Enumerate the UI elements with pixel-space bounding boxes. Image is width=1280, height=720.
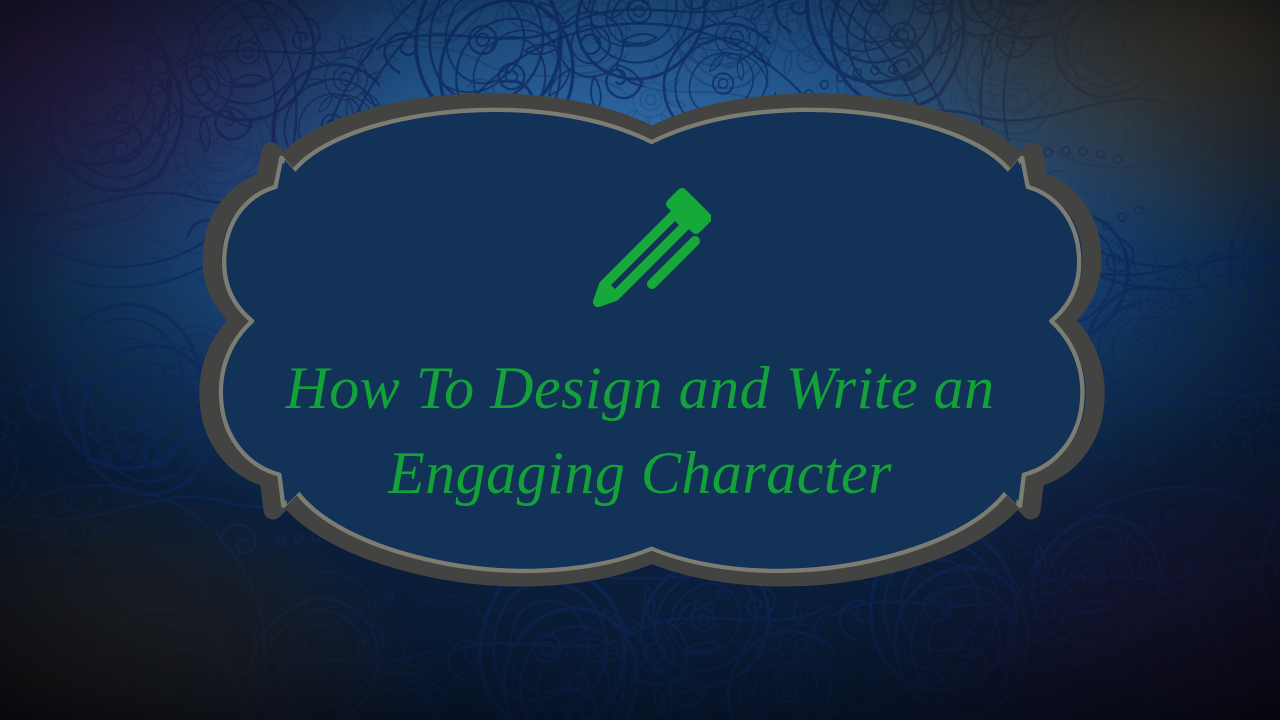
frame-inner-fill	[225, 112, 1078, 568]
decorative-frame	[155, 78, 1125, 638]
slide-canvas: How To Design and Write an Engaging Char…	[0, 0, 1280, 720]
